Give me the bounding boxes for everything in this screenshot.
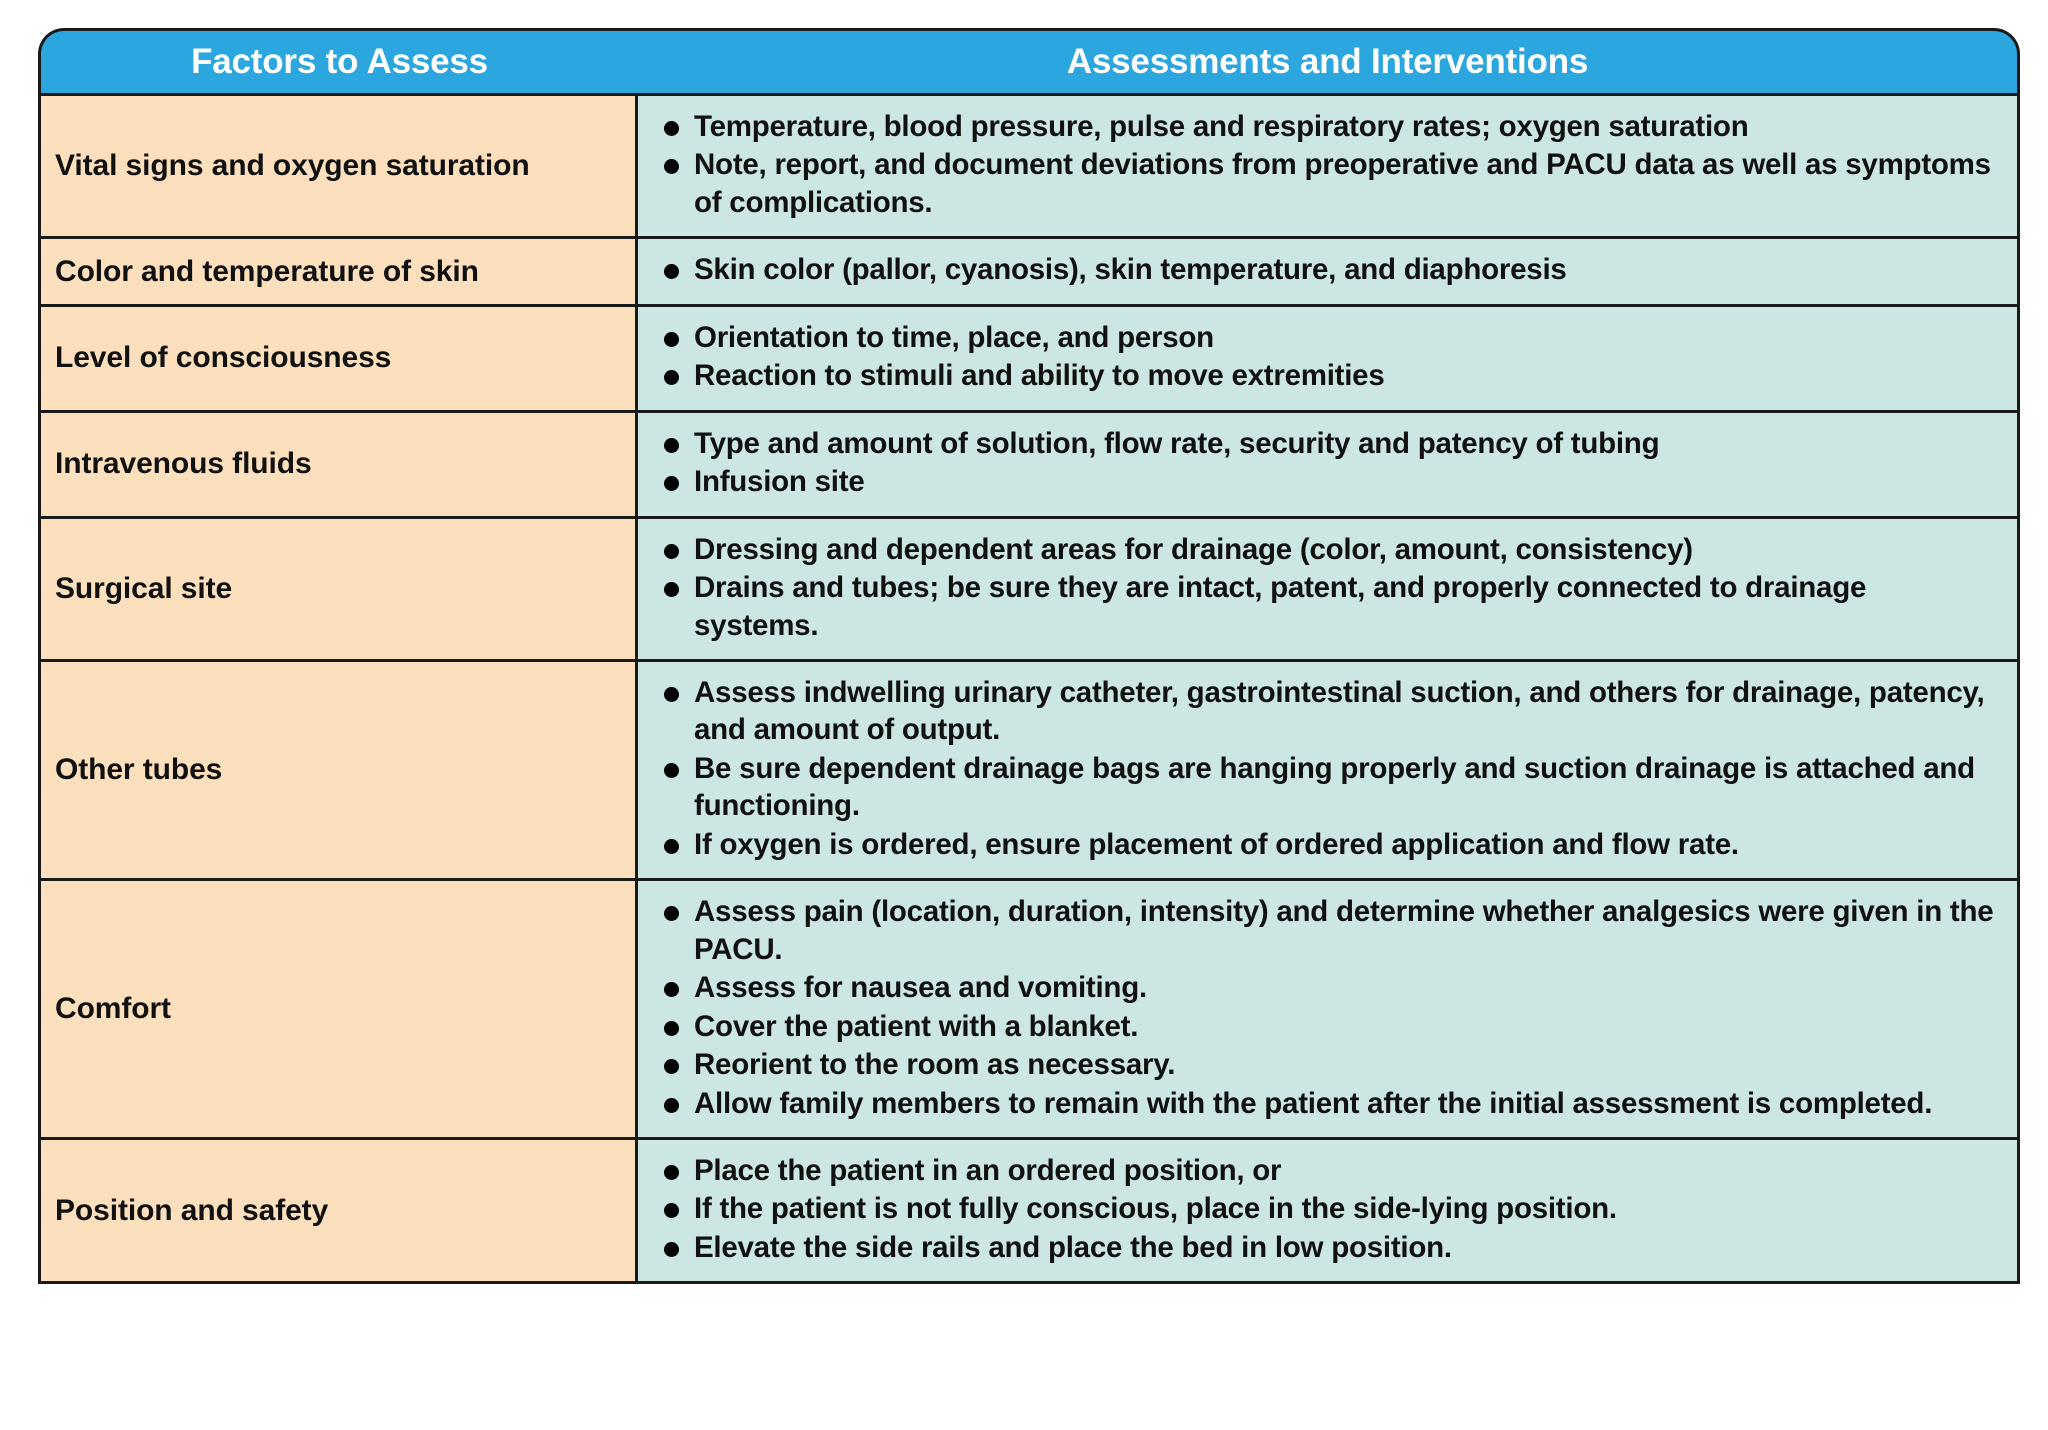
interventions-cell: Temperature, blood pressure, pulse and r… xyxy=(638,96,2020,239)
intervention-list-item: Reaction to stimuli and ability to move … xyxy=(660,357,1995,394)
interventions-cell: Dressing and dependent areas for drainag… xyxy=(638,519,2020,662)
interventions-cell: Skin color (pallor, cyanosis), skin temp… xyxy=(638,239,2020,306)
factor-cell: Surgical site xyxy=(38,519,638,662)
factor-cell: Level of consciousness xyxy=(38,307,638,413)
intervention-list-item: Be sure dependent drainage bags are hang… xyxy=(660,750,1995,825)
table-row: Level of consciousnessOrientation to tim… xyxy=(38,307,2020,413)
factor-cell: Comfort xyxy=(38,881,638,1140)
factor-cell: Color and temperature of skin xyxy=(38,239,638,306)
interventions-cell: Type and amount of solution, flow rate, … xyxy=(638,413,2020,519)
interventions-cell: Orientation to time, place, and personRe… xyxy=(638,307,2020,413)
factor-cell: Vital signs and oxygen saturation xyxy=(38,96,638,239)
intervention-list: Dressing and dependent areas for drainag… xyxy=(660,531,1995,644)
intervention-list-item: Skin color (pallor, cyanosis), skin temp… xyxy=(660,251,1995,288)
intervention-list-item: Elevate the side rails and place the bed… xyxy=(660,1229,1995,1266)
column-header-assessments-and-interventions: Assessments and Interventions xyxy=(638,28,2020,96)
table-row: Color and temperature of skinSkin color … xyxy=(38,239,2020,306)
factor-cell: Position and safety xyxy=(38,1140,638,1284)
table-row: Position and safetyPlace the patient in … xyxy=(38,1140,2020,1284)
intervention-list: Skin color (pallor, cyanosis), skin temp… xyxy=(660,251,1995,288)
table-row: Vital signs and oxygen saturationTempera… xyxy=(38,96,2020,239)
intervention-list-item: Reorient to the room as necessary. xyxy=(660,1046,1995,1083)
table-body: Vital signs and oxygen saturationTempera… xyxy=(38,96,2020,1284)
intervention-list-item: Temperature, blood pressure, pulse and r… xyxy=(660,108,1995,145)
table-row: Intravenous fluidsType and amount of sol… xyxy=(38,413,2020,519)
intervention-list: Place the patient in an ordered position… xyxy=(660,1152,1995,1266)
intervention-list-item: Note, report, and document deviations fr… xyxy=(660,146,1995,221)
intervention-list-item: Place the patient in an ordered position… xyxy=(660,1152,1995,1189)
interventions-cell: Place the patient in an ordered position… xyxy=(638,1140,2020,1284)
table-row: Other tubesAssess indwelling urinary cat… xyxy=(38,662,2020,881)
interventions-cell: Assess pain (location, duration, intensi… xyxy=(638,881,2020,1140)
intervention-list-item: Allow family members to remain with the … xyxy=(660,1085,1995,1122)
intervention-list: Type and amount of solution, flow rate, … xyxy=(660,425,1995,501)
intervention-list: Orientation to time, place, and personRe… xyxy=(660,319,1995,395)
column-header-factors-to-assess: Factors to Assess xyxy=(38,28,638,96)
factor-cell: Other tubes xyxy=(38,662,638,881)
intervention-list: Temperature, blood pressure, pulse and r… xyxy=(660,108,1995,221)
intervention-list-item: Assess for nausea and vomiting. xyxy=(660,969,1995,1006)
header-row: Factors to Assess Assessments and Interv… xyxy=(38,28,2020,96)
intervention-list: Assess pain (location, duration, intensi… xyxy=(660,893,1995,1122)
factor-cell: Intravenous fluids xyxy=(38,413,638,519)
table-row: ComfortAssess pain (location, duration, … xyxy=(38,881,2020,1140)
intervention-list-item: If the patient is not fully conscious, p… xyxy=(660,1190,1995,1227)
intervention-list-item: Orientation to time, place, and person xyxy=(660,319,1995,356)
intervention-list-item: Cover the patient with a blanket. xyxy=(660,1008,1995,1045)
table-header: Factors to Assess Assessments and Interv… xyxy=(38,28,2020,96)
postoperative-assessment-table: Factors to Assess Assessments and Interv… xyxy=(38,28,2020,1284)
table-row: Surgical siteDressing and dependent area… xyxy=(38,519,2020,662)
intervention-list-item: Drains and tubes; be sure they are intac… xyxy=(660,569,1995,644)
intervention-list-item: Type and amount of solution, flow rate, … xyxy=(660,425,1995,462)
intervention-list-item: Assess indwelling urinary catheter, gast… xyxy=(660,674,1995,749)
intervention-list-item: Infusion site xyxy=(660,463,1995,500)
intervention-list-item: Assess pain (location, duration, intensi… xyxy=(660,893,1995,968)
intervention-list-item: Dressing and dependent areas for drainag… xyxy=(660,531,1995,568)
interventions-cell: Assess indwelling urinary catheter, gast… xyxy=(638,662,2020,881)
intervention-list: Assess indwelling urinary catheter, gast… xyxy=(660,674,1995,863)
assessment-table-container: Factors to Assess Assessments and Interv… xyxy=(38,28,2020,1390)
intervention-list-item: If oxygen is ordered, ensure placement o… xyxy=(660,826,1995,863)
